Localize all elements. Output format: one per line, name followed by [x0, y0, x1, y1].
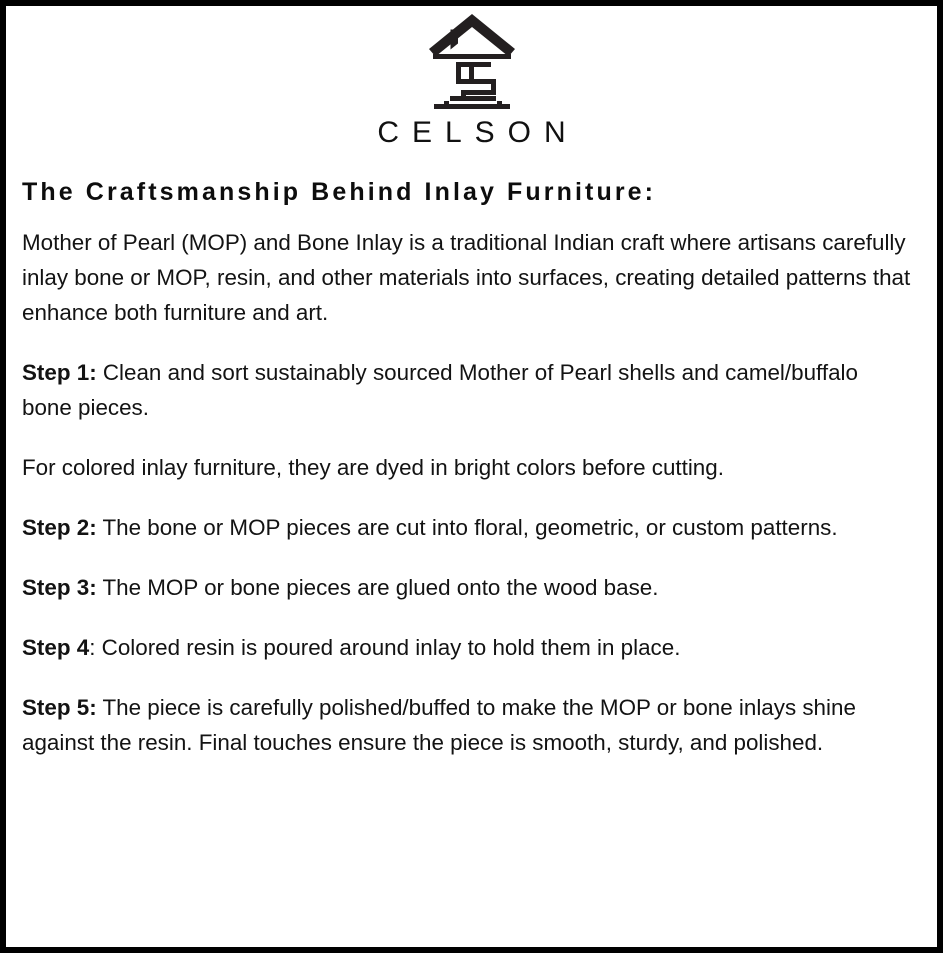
step-4-label: Step 4: [22, 635, 89, 660]
step-3-paragraph: Step 3: The MOP or bone pieces are glued…: [22, 570, 912, 605]
step-1-text: Clean and sort sustainably sourced Mothe…: [22, 360, 858, 420]
colored-inlay-note-text: For colored inlay furniture, they are dy…: [22, 455, 724, 480]
step-5-text: The piece is carefully polished/buffed t…: [22, 695, 856, 755]
poster-card: CELSON The Craftsmanship Behind Inlay Fu…: [0, 0, 943, 953]
step-4-text: : Colored resin is poured around inlay t…: [89, 635, 680, 660]
colored-inlay-note-paragraph: For colored inlay furniture, they are dy…: [22, 450, 912, 485]
step-2-label: Step 2:: [22, 515, 97, 540]
step-5-paragraph: Step 5: The piece is carefully polished/…: [22, 690, 912, 760]
step-3-label: Step 3:: [22, 575, 97, 600]
house-monogram-logo-icon: [426, 10, 518, 110]
step-1-paragraph: Step 1: Clean and sort sustainably sourc…: [22, 355, 912, 425]
step-3-text: The MOP or bone pieces are glued onto th…: [97, 575, 659, 600]
brand-name: CELSON: [16, 116, 927, 149]
article-body: Mother of Pearl (MOP) and Bone Inlay is …: [22, 207, 927, 760]
brand-block: CELSON: [16, 6, 927, 149]
step-2-text: The bone or MOP pieces are cut into flor…: [97, 515, 838, 540]
poster-inner: CELSON The Craftsmanship Behind Inlay Fu…: [6, 6, 937, 947]
intro-paragraph: Mother of Pearl (MOP) and Bone Inlay is …: [22, 225, 912, 330]
step-4-paragraph: Step 4: Colored resin is poured around i…: [22, 630, 912, 665]
step-2-paragraph: Step 2: The bone or MOP pieces are cut i…: [22, 510, 912, 545]
page-title: The Craftsmanship Behind Inlay Furniture…: [22, 177, 927, 207]
step-5-label: Step 5:: [22, 695, 97, 720]
step-1-label: Step 1:: [22, 360, 97, 385]
